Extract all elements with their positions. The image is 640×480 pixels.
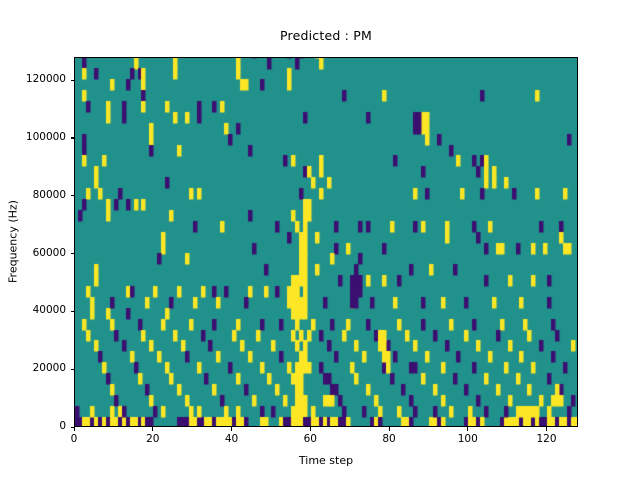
- x-tick-label: 120: [517, 433, 577, 445]
- x-tick-mark: [310, 427, 311, 431]
- y-tick-mark: [71, 311, 75, 312]
- y-tick-label: 20000: [0, 362, 66, 374]
- y-tick-mark: [71, 253, 75, 254]
- y-tick-mark: [71, 137, 75, 138]
- x-tick-mark: [74, 427, 75, 431]
- x-tick-mark: [231, 427, 232, 431]
- x-tick-mark: [467, 427, 468, 431]
- x-tick-label: 0: [44, 433, 104, 445]
- y-tick-label: 120000: [0, 73, 66, 85]
- x-tick-label: 20: [123, 433, 183, 445]
- matplotlib-figure: Predicted : PM 0200004000060000800001000…: [0, 0, 640, 480]
- y-tick-mark: [71, 195, 75, 196]
- x-axis-label: Time step: [74, 454, 578, 467]
- y-tick-mark: [71, 369, 75, 370]
- heatmap-canvas: [75, 58, 578, 427]
- heatmap-axes: [74, 57, 578, 427]
- x-tick-label: 40: [202, 433, 262, 445]
- page-title: Predicted : PM: [74, 28, 578, 43]
- y-axis-label: Frequency (Hz): [7, 142, 20, 342]
- y-tick-label: 0: [0, 420, 66, 432]
- x-tick-label: 80: [359, 433, 419, 445]
- x-tick-mark: [152, 427, 153, 431]
- x-tick-label: 100: [438, 433, 498, 445]
- x-tick-label: 60: [280, 433, 340, 445]
- x-tick-mark: [389, 427, 390, 431]
- x-tick-mark: [546, 427, 547, 431]
- y-tick-mark: [71, 80, 75, 81]
